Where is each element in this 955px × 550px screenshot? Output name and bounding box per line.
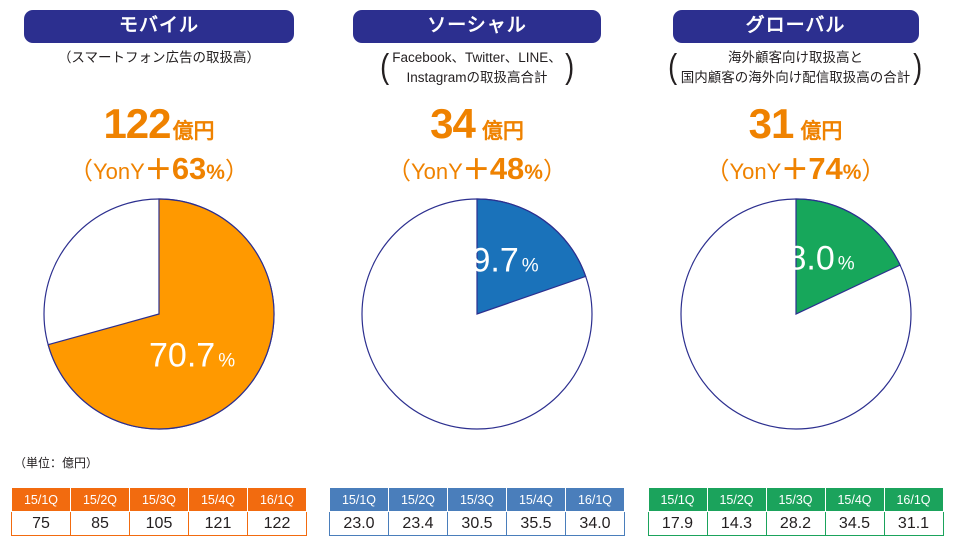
table-header-row: 15/1Q 15/2Q 15/3Q 15/4Q 16/1Q bbox=[12, 488, 307, 512]
yoy-line-global: （YonY＋74%） bbox=[636, 148, 955, 187]
yoy-value: 74 bbox=[808, 151, 842, 186]
table-row: 75 85 105 121 122 bbox=[12, 512, 307, 536]
table-cell: 34.0 bbox=[566, 512, 625, 536]
pie-label-percent-mobile: % bbox=[218, 350, 235, 371]
table-cell: 121 bbox=[189, 512, 248, 536]
quarter-table-global: 15/1Q 15/2Q 15/3Q 15/4Q 16/1Q 17.9 14.3 … bbox=[648, 487, 944, 536]
table-cell: 35.5 bbox=[507, 512, 566, 536]
table-header-cell: 15/1Q bbox=[330, 488, 389, 512]
yoy-open-paren: （ bbox=[706, 158, 730, 185]
close-paren-glyph: ) bbox=[913, 52, 922, 83]
table-cell: 85 bbox=[71, 512, 130, 536]
subtitle-line: 海外顧客向け取扱高と bbox=[728, 50, 863, 65]
yoy-label: YonY bbox=[730, 159, 782, 184]
table-header-cell: 16/1Q bbox=[248, 488, 307, 512]
pie-chart-global: 18.0 % bbox=[678, 196, 914, 432]
table-cell: 14.3 bbox=[707, 512, 766, 536]
unit-note: （単位：億円） bbox=[14, 454, 98, 471]
pie-wrap-mobile: 70.7 % bbox=[0, 196, 318, 432]
pie-label-value-social: 19.7 bbox=[453, 242, 519, 280]
subtitle-paren-row: ( Facebook、Twitter、LINE、 Instagramの取扱高合計… bbox=[326, 48, 628, 87]
pie-chart-mobile: 70.7 % bbox=[41, 196, 277, 432]
yoy-percent-sign: % bbox=[524, 161, 543, 184]
headline-unit: 億円 bbox=[482, 120, 524, 143]
table-cell: 30.5 bbox=[448, 512, 507, 536]
yoy-plus-sign: ＋ bbox=[781, 155, 808, 185]
table-header-cell: 16/1Q bbox=[566, 488, 625, 512]
quarter-table-mobile: 15/1Q 15/2Q 15/3Q 15/4Q 16/1Q 75 85 105 … bbox=[11, 487, 307, 536]
yoy-value: 48 bbox=[490, 151, 524, 186]
table-cell: 23.4 bbox=[389, 512, 448, 536]
subtitle-text: 海外顧客向け取扱高と 国内顧客の海外向け配信取扱高の合計 bbox=[681, 48, 911, 87]
yoy-close-paren: ） bbox=[225, 158, 249, 185]
table-header-cell: 15/3Q bbox=[766, 488, 825, 512]
table-cell: 23.0 bbox=[330, 512, 389, 536]
table-cell: 105 bbox=[130, 512, 189, 536]
yoy-plus-sign: ＋ bbox=[145, 155, 172, 185]
pill-wrap-mobile: モバイル bbox=[0, 10, 318, 43]
panel-global: グローバル ( 海外顧客向け取扱高と 国内顧客の海外向け配信取扱高の合計 ) 3… bbox=[636, 0, 955, 550]
subtitle-line: （スマートフォン広告の取扱高） bbox=[8, 48, 310, 68]
table-cell: 17.9 bbox=[648, 512, 707, 536]
pie-label-percent-social: % bbox=[522, 256, 539, 277]
table-header-cell: 16/1Q bbox=[884, 488, 943, 512]
pie-label-value-mobile: 70.7 bbox=[149, 336, 215, 374]
headline-figure-social: 34億円 bbox=[318, 100, 636, 148]
panel-title-social: ソーシャル bbox=[353, 10, 601, 43]
pie-label-percent-global: % bbox=[837, 254, 854, 275]
panel-subtitle-global: ( 海外顧客向け取扱高と 国内顧客の海外向け配信取扱高の合計 ) bbox=[636, 48, 955, 87]
table-header-cell: 15/1Q bbox=[12, 488, 71, 512]
dashboard-board: モバイル （スマートフォン広告の取扱高） 122億円 （YonY＋63%） 70… bbox=[0, 0, 955, 550]
pill-wrap-global: グローバル bbox=[636, 10, 955, 43]
headline-unit: 億円 bbox=[800, 120, 842, 143]
table-header-cell: 15/4Q bbox=[507, 488, 566, 512]
yoy-line-mobile: （YonY＋63%） bbox=[0, 148, 318, 187]
panel-subtitle-social: ( Facebook、Twitter、LINE、 Instagramの取扱高合計… bbox=[318, 48, 636, 87]
yoy-percent-sign: % bbox=[206, 161, 225, 184]
pie-label-value-global: 18.0 bbox=[768, 240, 834, 278]
panel-title-mobile: モバイル bbox=[24, 10, 294, 43]
table-cell: 75 bbox=[12, 512, 71, 536]
pie-wrap-social: 19.7 % bbox=[318, 196, 636, 432]
table-header-cell: 15/3Q bbox=[130, 488, 189, 512]
table-cell: 28.2 bbox=[766, 512, 825, 536]
panel-mobile: モバイル （スマートフォン広告の取扱高） 122億円 （YonY＋63%） 70… bbox=[0, 0, 318, 550]
subtitle-line: Instagramの取扱高合計 bbox=[406, 70, 547, 85]
table-header-cell: 15/4Q bbox=[825, 488, 884, 512]
open-paren-glyph: ( bbox=[669, 52, 678, 83]
table-header-cell: 15/3Q bbox=[448, 488, 507, 512]
yoy-label: YonY bbox=[93, 159, 145, 184]
table-cell: 122 bbox=[248, 512, 307, 536]
table-header-cell: 15/2Q bbox=[71, 488, 130, 512]
table-wrap-global: 15/1Q 15/2Q 15/3Q 15/4Q 16/1Q 17.9 14.3 … bbox=[636, 487, 955, 536]
headline-amount: 122 bbox=[103, 100, 170, 147]
table-header-cell: 15/1Q bbox=[648, 488, 707, 512]
table-header-cell: 15/2Q bbox=[389, 488, 448, 512]
table-header-cell: 15/2Q bbox=[707, 488, 766, 512]
table-wrap-social: 15/1Q 15/2Q 15/3Q 15/4Q 16/1Q 23.0 23.4 … bbox=[318, 487, 636, 536]
table-header-row: 15/1Q 15/2Q 15/3Q 15/4Q 16/1Q bbox=[648, 488, 943, 512]
yoy-close-paren: ） bbox=[861, 158, 885, 185]
open-paren-glyph: ( bbox=[380, 52, 389, 83]
headline-unit: 億円 bbox=[173, 120, 215, 143]
panel-subtitle-mobile: （スマートフォン広告の取扱高） bbox=[0, 48, 318, 68]
panel-social: ソーシャル ( Facebook、Twitter、LINE、 Instagram… bbox=[318, 0, 636, 550]
yoy-label: YonY bbox=[411, 159, 463, 184]
table-cell: 34.5 bbox=[825, 512, 884, 536]
quarter-table-social: 15/1Q 15/2Q 15/3Q 15/4Q 16/1Q 23.0 23.4 … bbox=[329, 487, 625, 536]
table-cell: 31.1 bbox=[884, 512, 943, 536]
headline-amount: 34 bbox=[430, 100, 475, 147]
pie-wrap-global: 18.0 % bbox=[636, 196, 955, 432]
pill-wrap-social: ソーシャル bbox=[318, 10, 636, 43]
headline-figure-mobile: 122億円 bbox=[0, 100, 318, 148]
close-paren-glyph: ) bbox=[565, 52, 574, 83]
yoy-close-paren: ） bbox=[543, 158, 567, 185]
yoy-percent-sign: % bbox=[843, 161, 862, 184]
yoy-line-social: （YonY＋48%） bbox=[318, 148, 636, 187]
panel-title-global: グローバル bbox=[673, 10, 919, 43]
yoy-value: 63 bbox=[172, 151, 206, 186]
subtitle-line: 国内顧客の海外向け配信取扱高の合計 bbox=[681, 70, 911, 85]
headline-figure-global: 31億円 bbox=[636, 100, 955, 148]
headline-amount: 31 bbox=[749, 100, 794, 147]
table-header-row: 15/1Q 15/2Q 15/3Q 15/4Q 16/1Q bbox=[330, 488, 625, 512]
pie-chart-social: 19.7 % bbox=[359, 196, 595, 432]
yoy-open-paren: （ bbox=[387, 158, 411, 185]
table-header-cell: 15/4Q bbox=[189, 488, 248, 512]
subtitle-line: Facebook、Twitter、LINE、 bbox=[392, 50, 562, 65]
yoy-plus-sign: ＋ bbox=[463, 155, 490, 185]
table-wrap-mobile: 15/1Q 15/2Q 15/3Q 15/4Q 16/1Q 75 85 105 … bbox=[0, 487, 318, 536]
subtitle-paren-row: ( 海外顧客向け取扱高と 国内顧客の海外向け配信取扱高の合計 ) bbox=[644, 48, 947, 87]
subtitle-text: Facebook、Twitter、LINE、 Instagramの取扱高合計 bbox=[392, 48, 562, 87]
table-row: 17.9 14.3 28.2 34.5 31.1 bbox=[648, 512, 943, 536]
yoy-open-paren: （ bbox=[69, 158, 93, 185]
table-row: 23.0 23.4 30.5 35.5 34.0 bbox=[330, 512, 625, 536]
